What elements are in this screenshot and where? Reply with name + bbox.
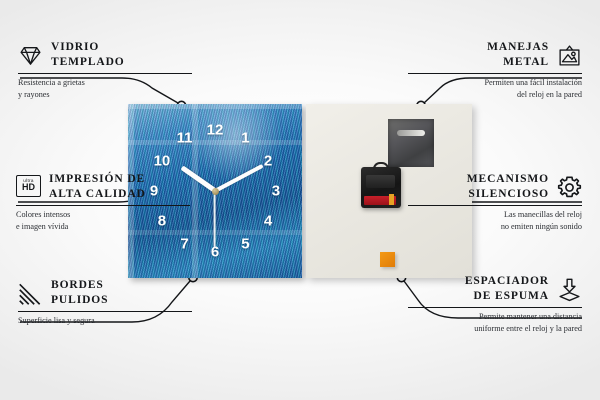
- hanger-slot: [397, 130, 425, 136]
- clock-number-7: 7: [180, 237, 188, 252]
- product-infographic: 12 1 2 3 4 5 6 7 8 9 10 11: [0, 0, 600, 400]
- ultra-hd-icon: ultra HD: [16, 175, 41, 200]
- callout-rule: [18, 73, 192, 74]
- clock-second-hand: [214, 191, 216, 247]
- gear-icon: [557, 175, 582, 200]
- callout-description: Las manecillas del reloj no emiten ningú…: [408, 209, 582, 232]
- mechanism-loop: [373, 162, 389, 170]
- callout-description: Permite mantener una distancia uniforme …: [408, 311, 582, 334]
- clock-number-1: 1: [241, 130, 249, 145]
- callout-rule: [408, 307, 582, 308]
- polished-edge-icon: [18, 281, 43, 306]
- callout-title: MECANISMO SILENCIOSO: [467, 172, 549, 202]
- mechanism-detail: [366, 175, 395, 188]
- callout-title: MANEJAS METAL: [487, 40, 549, 70]
- ultra-hd-icon-large-text: HD: [22, 183, 35, 192]
- callout-title: BORDES PULIDOS: [51, 278, 108, 308]
- callout-manejas-metal: MANEJAS METAL Permiten una fácil instala…: [408, 40, 582, 101]
- picture-hanger-icon: [557, 43, 582, 68]
- clock-number-3: 3: [272, 184, 280, 199]
- clock-number-11: 11: [177, 130, 193, 145]
- callout-impresion-alta-calidad: ultra HD IMPRESIÓN DE ALTA CALIDAD Color…: [16, 172, 190, 233]
- callout-description: Permiten una fácil instalación del reloj…: [408, 77, 582, 100]
- callout-description: Colores intensos e imagen vívida: [16, 209, 190, 232]
- callout-vidrio-templado: VIDRIO TEMPLADO Resistencia a grietas y …: [18, 40, 192, 101]
- callout-bordes-pulidos: BORDES PULIDOS Superficie lisa y segura: [18, 278, 192, 327]
- clock-number-10: 10: [154, 153, 171, 168]
- callout-description: Resistencia a grietas y rayones: [18, 77, 192, 100]
- foam-spacer-block: [380, 252, 395, 267]
- mechanism-battery: [364, 196, 396, 205]
- foam-spacer-icon: [557, 277, 582, 302]
- callout-mecanismo-silencioso: MECANISMO SILENCIOSO Las manecillas del …: [408, 172, 582, 233]
- clock-mechanism: [361, 167, 401, 208]
- callout-rule: [408, 205, 582, 206]
- clock-center-pivot: [212, 188, 219, 195]
- callout-rule: [18, 311, 192, 312]
- clock-number-2: 2: [264, 153, 272, 168]
- callout-description: Superficie lisa y segura: [18, 315, 192, 327]
- callout-rule: [16, 205, 190, 206]
- callout-title: VIDRIO TEMPLADO: [51, 40, 125, 70]
- clock-number-12: 12: [207, 123, 224, 138]
- callout-title: IMPRESIÓN DE ALTA CALIDAD: [49, 172, 146, 202]
- clock-number-4: 4: [264, 214, 272, 229]
- clock-number-5: 5: [241, 237, 249, 252]
- callout-rule: [408, 73, 582, 74]
- callout-espaciador-espuma: ESPACIADOR DE ESPUMA Permite mantener un…: [408, 274, 582, 335]
- callout-title: ESPACIADOR DE ESPUMA: [465, 274, 549, 304]
- metal-hanger-plate: [388, 119, 434, 167]
- clock-minute-hand: [214, 164, 264, 193]
- diamond-icon: [18, 43, 43, 68]
